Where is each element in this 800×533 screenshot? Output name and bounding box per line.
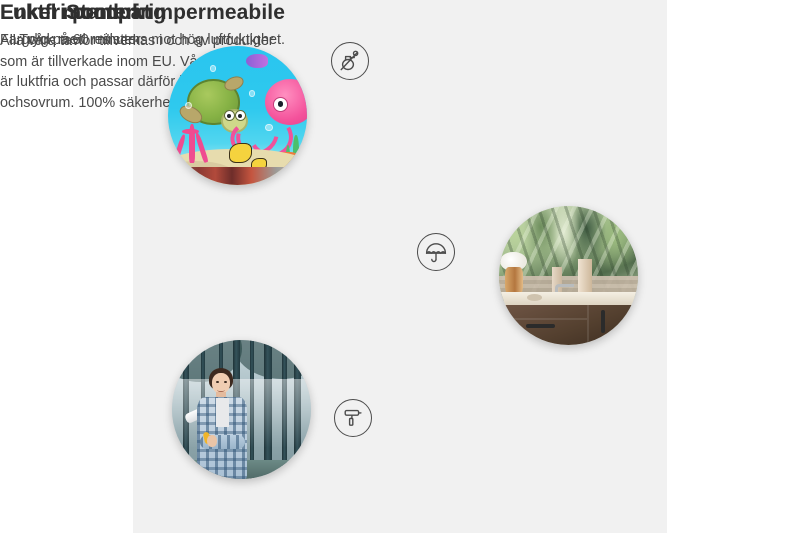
bottom-color-band bbox=[168, 167, 307, 185]
yellow-fish-large bbox=[229, 143, 252, 163]
bubble-2 bbox=[210, 65, 216, 71]
bubble-3 bbox=[249, 90, 256, 97]
underwater-cartoon-mural-thumbnail bbox=[168, 46, 307, 185]
woman-painter-forest-mural-thumbnail bbox=[172, 340, 311, 479]
vanity-cabinet bbox=[505, 305, 638, 345]
forest-scene bbox=[172, 340, 311, 479]
turtle-eye-left bbox=[224, 110, 235, 121]
pink-coral bbox=[174, 121, 216, 163]
feature-infographic: Luktfri produkt Alla våra tavlor tillver… bbox=[0, 0, 800, 533]
woman-eye-left bbox=[216, 381, 219, 383]
paint-roller-icon bbox=[334, 399, 372, 437]
feature-montering: Enkel montering Färgdig på 60 minuter. bbox=[0, 0, 280, 51]
feature-montering-title: Enkel montering bbox=[0, 0, 280, 25]
countertop bbox=[499, 292, 638, 305]
feature-montering-text: Enkel montering Färgdig på 60 minuter. bbox=[0, 0, 280, 51]
no-smell-spray-bottle-icon bbox=[331, 42, 369, 80]
soap-bottle-right bbox=[578, 259, 592, 295]
soap-dish bbox=[527, 294, 542, 301]
woman-inner-top bbox=[216, 398, 229, 427]
bathroom-scene bbox=[499, 206, 638, 345]
underwater-scene bbox=[168, 46, 307, 185]
bathroom-botanical-mural-thumbnail bbox=[499, 206, 638, 345]
umbrella-icon bbox=[417, 233, 455, 271]
octopus-eye bbox=[273, 97, 288, 112]
woman-hand bbox=[207, 435, 216, 447]
feature-montering-body: Färgdig på 60 minuter. bbox=[0, 30, 280, 50]
purple-fish bbox=[246, 54, 268, 68]
woman-painter bbox=[183, 368, 269, 479]
